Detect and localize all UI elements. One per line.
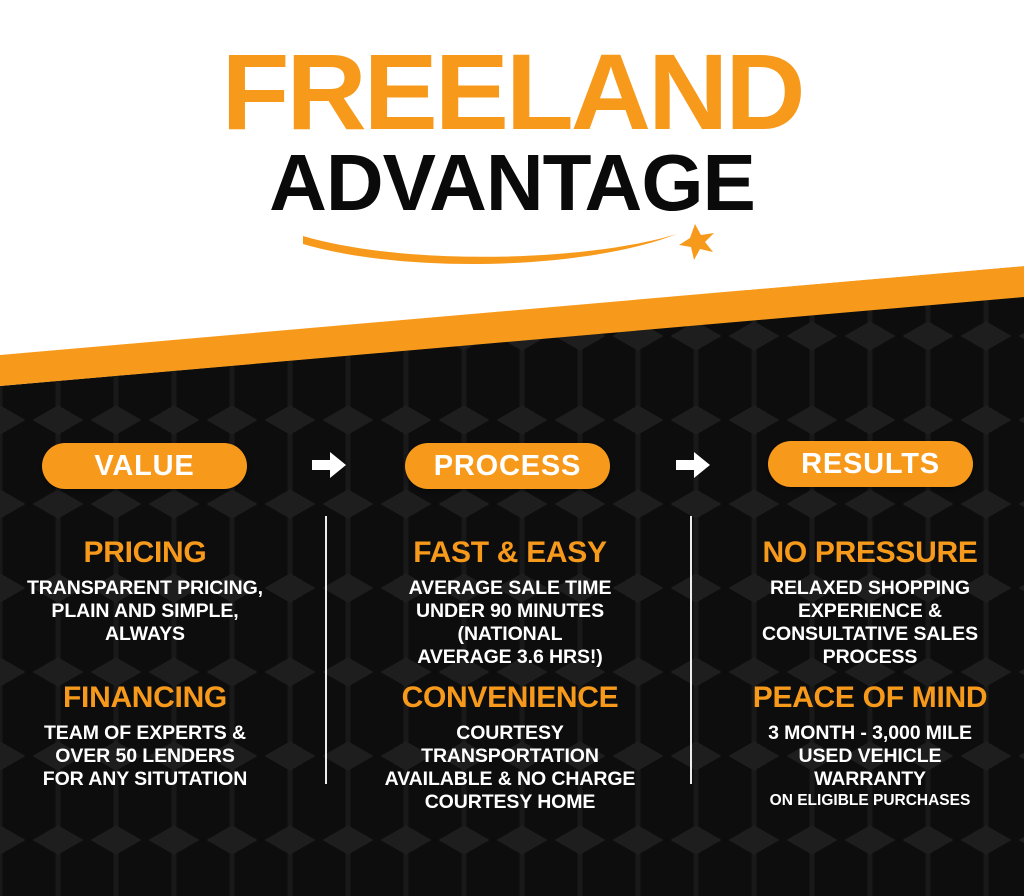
- column-divider-1: [325, 516, 327, 784]
- feature-heading: FINANCING: [0, 681, 310, 715]
- feature-heading: PRICING: [0, 536, 310, 570]
- feature-body-line: ALWAYS: [0, 623, 310, 646]
- feature-body-line: TRANSPORTATION: [345, 745, 675, 768]
- feature-body: 3 MONTH - 3,000 MILE USED VEHICLE WARRAN…: [705, 722, 1024, 791]
- feature-block-pricing: PRICING TRANSPARENT PRICING, PLAIN AND S…: [0, 536, 310, 646]
- feature-body: RELAXED SHOPPING EXPERIENCE & CONSULTATI…: [705, 577, 1024, 669]
- feature-body: AVERAGE SALE TIME UNDER 90 MINUTES (NATI…: [345, 577, 675, 669]
- feature-body-line: FOR ANY SITUTATION: [0, 768, 310, 791]
- feature-body-line: PLAIN AND SIMPLE,: [0, 600, 310, 623]
- step-pill-value[interactable]: VALUE: [42, 443, 247, 489]
- feature-block-fast-and-easy: FAST & EASY AVERAGE SALE TIME UNDER 90 M…: [345, 536, 675, 669]
- feature-body-line: TRANSPARENT PRICING,: [0, 577, 310, 600]
- feature-body-line: AVERAGE 3.6 HRS!): [345, 646, 675, 669]
- step-pill-results[interactable]: RESULTS: [768, 441, 973, 487]
- feature-body-line: AVAILABLE & NO CHARGE: [345, 768, 675, 791]
- feature-body-line: (NATIONAL: [345, 623, 675, 646]
- feature-heading: CONVENIENCE: [345, 681, 675, 715]
- step-pill-process[interactable]: PROCESS: [405, 443, 610, 489]
- feature-body-line: UNDER 90 MINUTES: [345, 600, 675, 623]
- freeland-advantage-infographic: FREELAND ADVANTAGE VALUE PROCESS RESULTS: [0, 0, 1024, 896]
- feature-body-line: TEAM OF EXPERTS &: [0, 722, 310, 745]
- feature-block-no-pressure: NO PRESSURE RELAXED SHOPPING EXPERIENCE …: [705, 536, 1024, 669]
- feature-body-line: RELAXED SHOPPING: [705, 577, 1024, 600]
- content-layer: VALUE PROCESS RESULTS PRICING TRANSPAREN…: [0, 0, 1024, 896]
- feature-body: TRANSPARENT PRICING, PLAIN AND SIMPLE, A…: [0, 577, 310, 646]
- arrow-right-icon-1: [310, 450, 348, 480]
- column-divider-2: [690, 516, 692, 784]
- feature-body-line: AVERAGE SALE TIME: [345, 577, 675, 600]
- feature-heading: FAST & EASY: [345, 536, 675, 570]
- feature-body-line: USED VEHICLE: [705, 745, 1024, 768]
- feature-body: TEAM OF EXPERTS & OVER 50 LENDERS FOR AN…: [0, 722, 310, 791]
- feature-body: COURTESY TRANSPORTATION AVAILABLE & NO C…: [345, 722, 675, 814]
- feature-body-line: CONSULTATIVE SALES: [705, 623, 1024, 646]
- feature-body-line: 3 MONTH - 3,000 MILE: [705, 722, 1024, 745]
- feature-body-line: OVER 50 LENDERS: [0, 745, 310, 768]
- feature-footnote: ON ELIGIBLE PURCHASES: [705, 791, 1024, 811]
- feature-body-line: WARRANTY: [705, 768, 1024, 791]
- arrow-right-icon-2: [674, 450, 712, 480]
- feature-heading: NO PRESSURE: [705, 536, 1024, 570]
- feature-body-line: EXPERIENCE &: [705, 600, 1024, 623]
- feature-body-line: COURTESY HOME: [345, 791, 675, 814]
- feature-body-line: PROCESS: [705, 646, 1024, 669]
- feature-block-peace-of-mind: PEACE OF MIND 3 MONTH - 3,000 MILE USED …: [705, 681, 1024, 811]
- feature-body-line: COURTESY: [345, 722, 675, 745]
- feature-block-financing: FINANCING TEAM OF EXPERTS & OVER 50 LEND…: [0, 681, 310, 791]
- feature-block-convenience: CONVENIENCE COURTESY TRANSPORTATION AVAI…: [345, 681, 675, 814]
- feature-heading: PEACE OF MIND: [705, 681, 1024, 715]
